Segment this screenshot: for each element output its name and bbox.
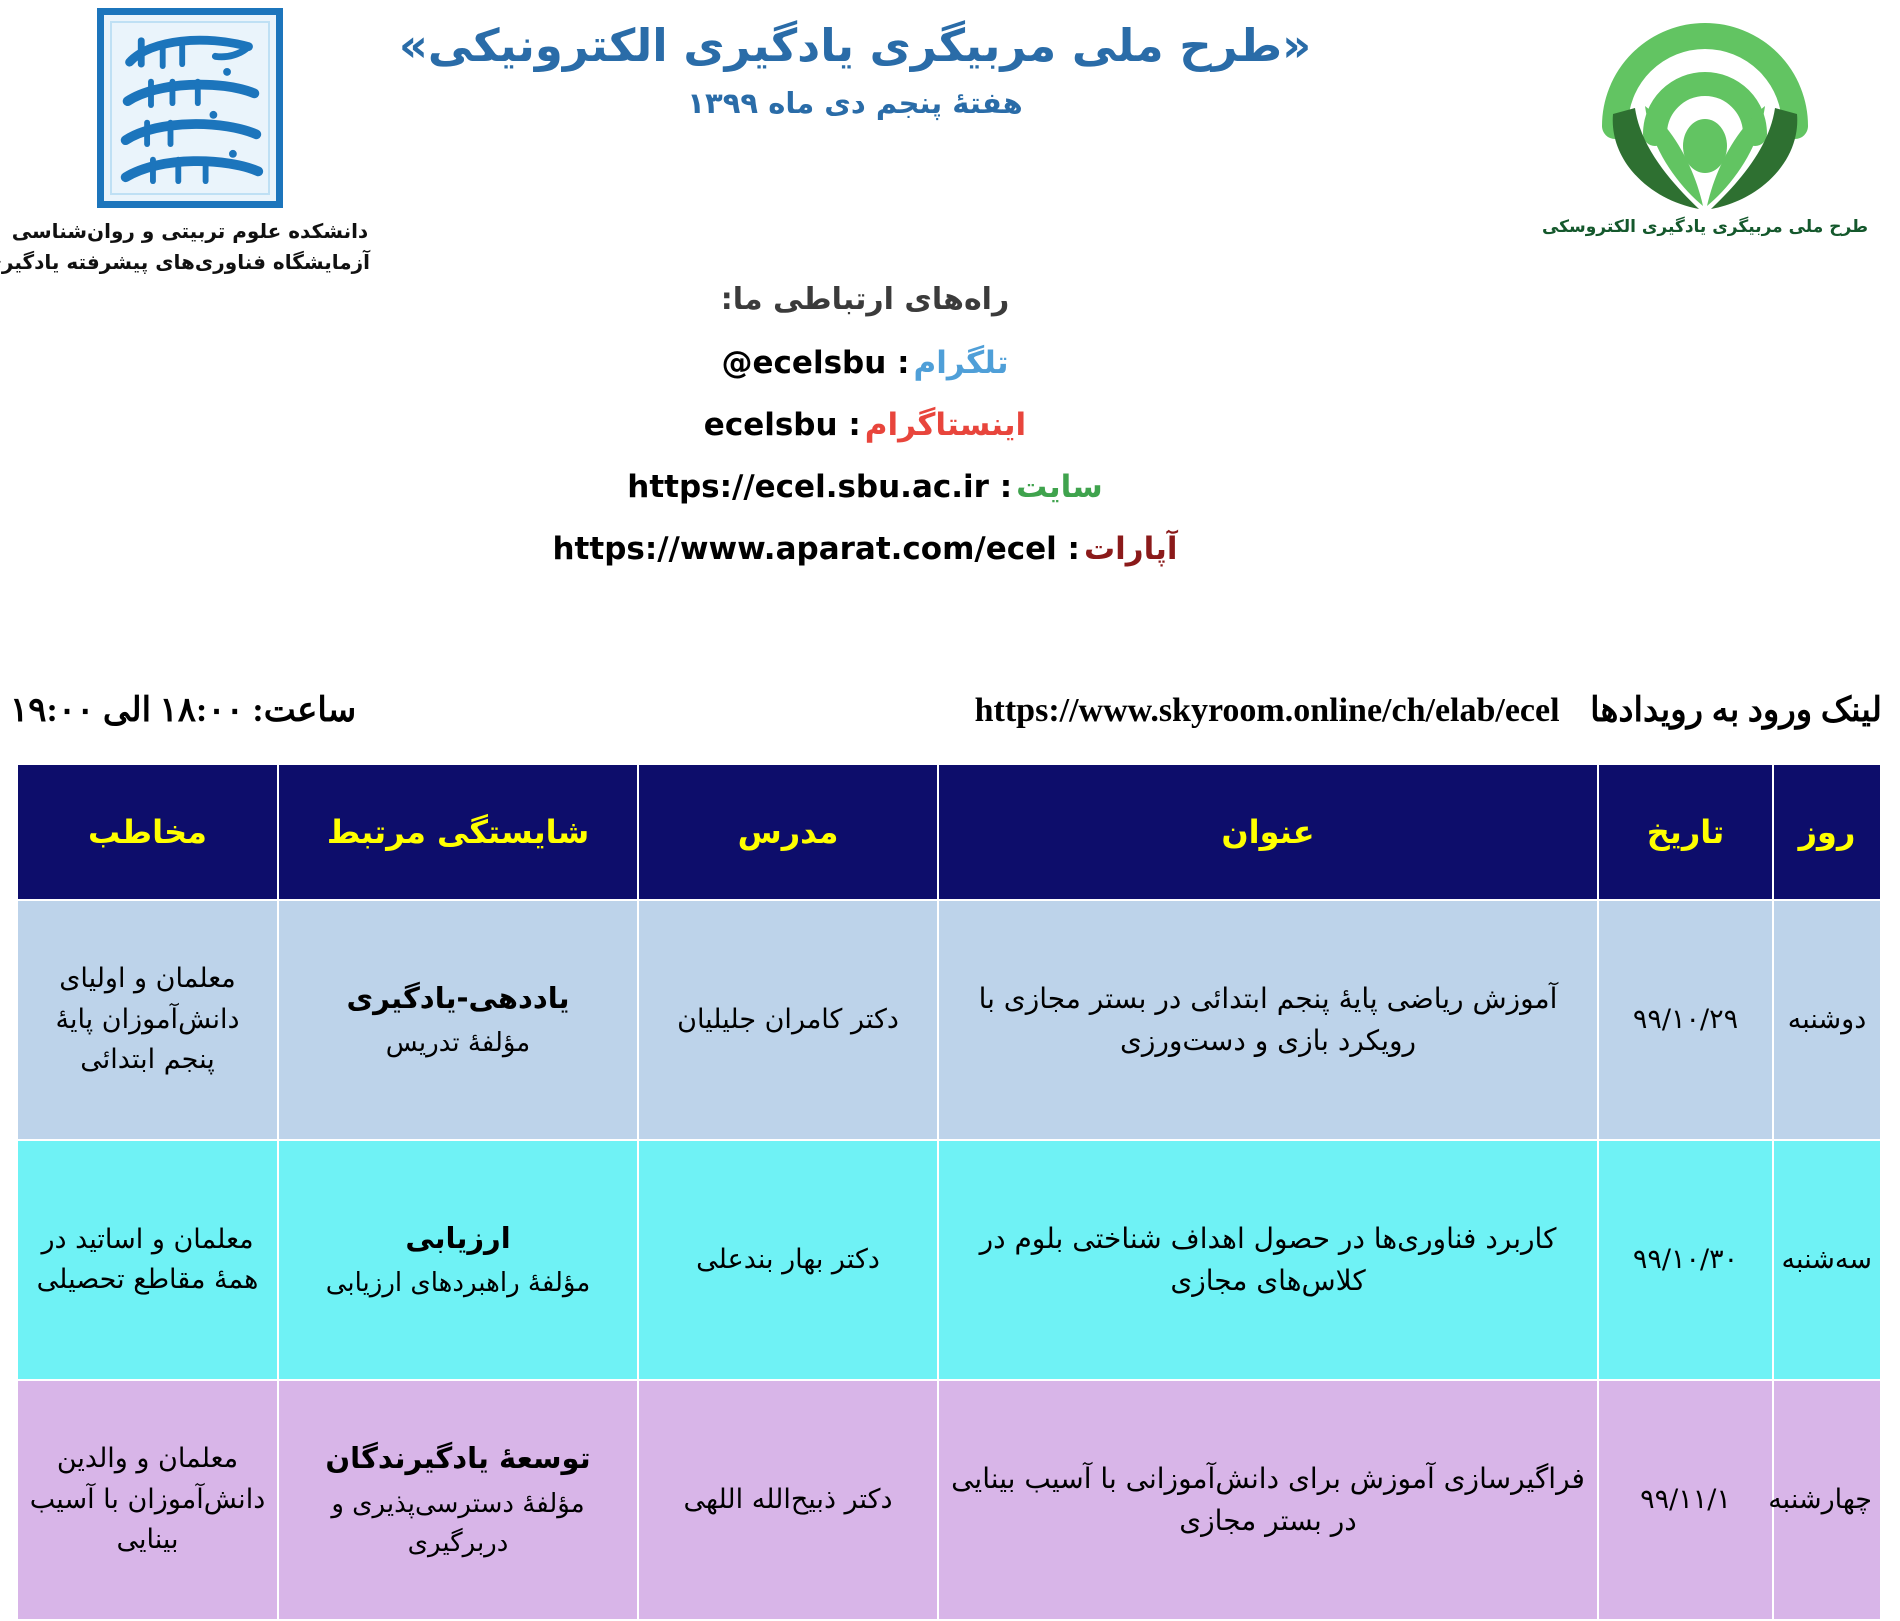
contact-value-aparat[interactable]: https://www.aparat.com/ecel xyxy=(552,531,1056,567)
contact-section: راه‌های ارتباطی ما: تلگرام: @ecelsbu این… xyxy=(0,282,1900,593)
page-title: «طرح ملی مربیگری یادگیری الکترونیکی» xyxy=(380,18,1330,74)
column-header-competency[interactable]: شایستگی مرتبط xyxy=(278,764,638,900)
cell-audience: معلمان و اساتید در همۀ مقاطع تحصیلی xyxy=(17,1140,278,1380)
competency-sub: مؤلفۀ تدریس xyxy=(287,1024,629,1063)
cell-competency: ارزیابی مؤلفۀ راهبردهای ارزیابی xyxy=(278,1140,638,1380)
schedule-table: روز تاریخ عنوان مدرس شایستگی مرتبط مخاطب… xyxy=(16,763,1882,1621)
competency-main: یاددهی-یادگیری xyxy=(287,977,629,1021)
competency-main: توسعۀ یادگیرندگان xyxy=(287,1437,629,1481)
cell-date: ۹۹/۱۰/۲۹ xyxy=(1598,900,1773,1140)
title-block: «طرح ملی مربیگری یادگیری الکترونیکی» هفت… xyxy=(380,18,1330,120)
column-header-day[interactable]: روز xyxy=(1773,764,1881,900)
contact-value-website[interactable]: https://ecel.sbu.ac.ir xyxy=(627,469,989,505)
ecel-logo-caption: طرح ملی مربیگری یادگیری الکتروسکی xyxy=(1540,217,1870,237)
ecel-logo-icon xyxy=(1579,10,1831,215)
contact-item-aparat[interactable]: آپارات: https://www.aparat.com/ecel xyxy=(0,531,1900,567)
contact-label-instagram: اینستاگرام xyxy=(865,407,1026,443)
event-time-label: ساعت: ۱۸:۰۰ الی ۱۹:۰۰ xyxy=(10,690,356,730)
cell-competency: توسعۀ یادگیرندگان مؤلفۀ دسترسی‌پذیری و د… xyxy=(278,1380,638,1620)
page-subtitle: هفتۀ پنجم دی ماه ۱۳۹۹ xyxy=(380,86,1330,120)
column-header-audience[interactable]: مخاطب xyxy=(17,764,278,900)
cell-teacher: دکتر ذبیح‌الله اللهی xyxy=(638,1380,938,1620)
schedule-table-wrap: روز تاریخ عنوان مدرس شایستگی مرتبط مخاطب… xyxy=(18,763,1882,1621)
ecel-hands-wifi-icon xyxy=(1579,10,1831,215)
contact-colon: : xyxy=(989,469,1012,505)
cell-day: سه‌شنبه xyxy=(1773,1140,1881,1380)
sbu-logo-block: دانشکده علوم تربیتی و روان‌شناسی آزمایشگ… xyxy=(10,8,370,278)
cell-title: فراگیرسازی آموزش برای دانش‌آموزانی با آس… xyxy=(938,1380,1598,1620)
sbu-calligraphy-icon xyxy=(112,21,268,195)
contact-label-website: سایت xyxy=(1016,469,1103,505)
sbu-logo-icon xyxy=(97,8,283,208)
cell-date: ۹۹/۱۰/۳۰ xyxy=(1598,1140,1773,1380)
cell-teacher: دکتر بهار بندعلی xyxy=(638,1140,938,1380)
event-entry-url[interactable]: https://www.skyroom.online/ch/elab/ecel xyxy=(975,692,1560,730)
cell-day: چهارشنبه xyxy=(1773,1380,1881,1620)
page-header: دانشکده علوم تربیتی و روان‌شناسی آزمایشگ… xyxy=(0,0,1900,300)
event-link-bar: لینک ورود به رویدادها https://www.skyroo… xyxy=(0,690,1900,760)
contact-heading: راه‌های ارتباطی ما: xyxy=(0,282,1900,317)
contact-label-telegram: تلگرام xyxy=(914,345,1009,381)
cell-teacher: دکتر کامران جلیلیان xyxy=(638,900,938,1140)
contact-colon: : xyxy=(1057,531,1080,567)
column-header-date[interactable]: تاریخ xyxy=(1598,764,1773,900)
table-header-row: روز تاریخ عنوان مدرس شایستگی مرتبط مخاطب xyxy=(17,764,1881,900)
cell-title: آموزش ریاضی پایۀ پنجم ابتدائی در بستر مج… xyxy=(938,900,1598,1140)
event-entry-link[interactable]: لینک ورود به رویدادها https://www.skyroo… xyxy=(975,690,1882,730)
contact-colon: : xyxy=(886,345,909,381)
cell-audience: معلمان و والدین دانش‌آموزان با آسیب بینا… xyxy=(17,1380,278,1620)
event-entry-label: لینک ورود به رویدادها xyxy=(1590,692,1882,729)
table-row[interactable]: چهارشنبه ۹۹/۱۱/۱ فراگیرسازی آموزش برای د… xyxy=(17,1380,1881,1620)
sbu-lab-caption: آزمایشگاه فناوری‌های پیشرفته یادگیری xyxy=(10,247,370,278)
contact-value-instagram[interactable]: ecelsbu xyxy=(704,407,838,443)
table-row[interactable]: سه‌شنبه ۹۹/۱۰/۳۰ کاربرد فناوری‌ها در حصو… xyxy=(17,1140,1881,1380)
contact-value-telegram[interactable]: @ecelsbu xyxy=(722,345,887,381)
contact-colon: : xyxy=(838,407,861,443)
sbu-logo-frame xyxy=(110,21,270,195)
contact-item-website[interactable]: سایت: https://ecel.sbu.ac.ir xyxy=(0,469,1900,505)
cell-competency: یاددهی-یادگیری مؤلفۀ تدریس xyxy=(278,900,638,1140)
cell-day: دوشنبه xyxy=(1773,900,1881,1140)
sbu-faculty-caption: دانشکده علوم تربیتی و روان‌شناسی xyxy=(10,216,370,247)
ecel-logo-block: طرح ملی مربیگری یادگیری الکتروسکی xyxy=(1540,10,1870,237)
contact-label-aparat: آپارات xyxy=(1084,531,1178,567)
cell-title: کاربرد فناوری‌ها در حصول اهداف شناختی بل… xyxy=(938,1140,1598,1380)
column-header-teacher[interactable]: مدرس xyxy=(638,764,938,900)
contact-item-telegram[interactable]: تلگرام: @ecelsbu xyxy=(0,345,1900,381)
competency-sub: مؤلفۀ راهبردهای ارزیابی xyxy=(287,1264,629,1303)
competency-sub: مؤلفۀ دسترسی‌پذیری و دربرگیری xyxy=(287,1485,629,1563)
contact-item-instagram[interactable]: اینستاگرام: ecelsbu xyxy=(0,407,1900,443)
column-header-title[interactable]: عنوان xyxy=(938,764,1598,900)
competency-main: ارزیابی xyxy=(287,1217,629,1261)
table-row[interactable]: دوشنبه ۹۹/۱۰/۲۹ آموزش ریاضی پایۀ پنجم اب… xyxy=(17,900,1881,1140)
cell-audience: معلمان و اولیای دانش‌آموزان پایۀ پنجم اب… xyxy=(17,900,278,1140)
cell-date: ۹۹/۱۱/۱ xyxy=(1598,1380,1773,1620)
